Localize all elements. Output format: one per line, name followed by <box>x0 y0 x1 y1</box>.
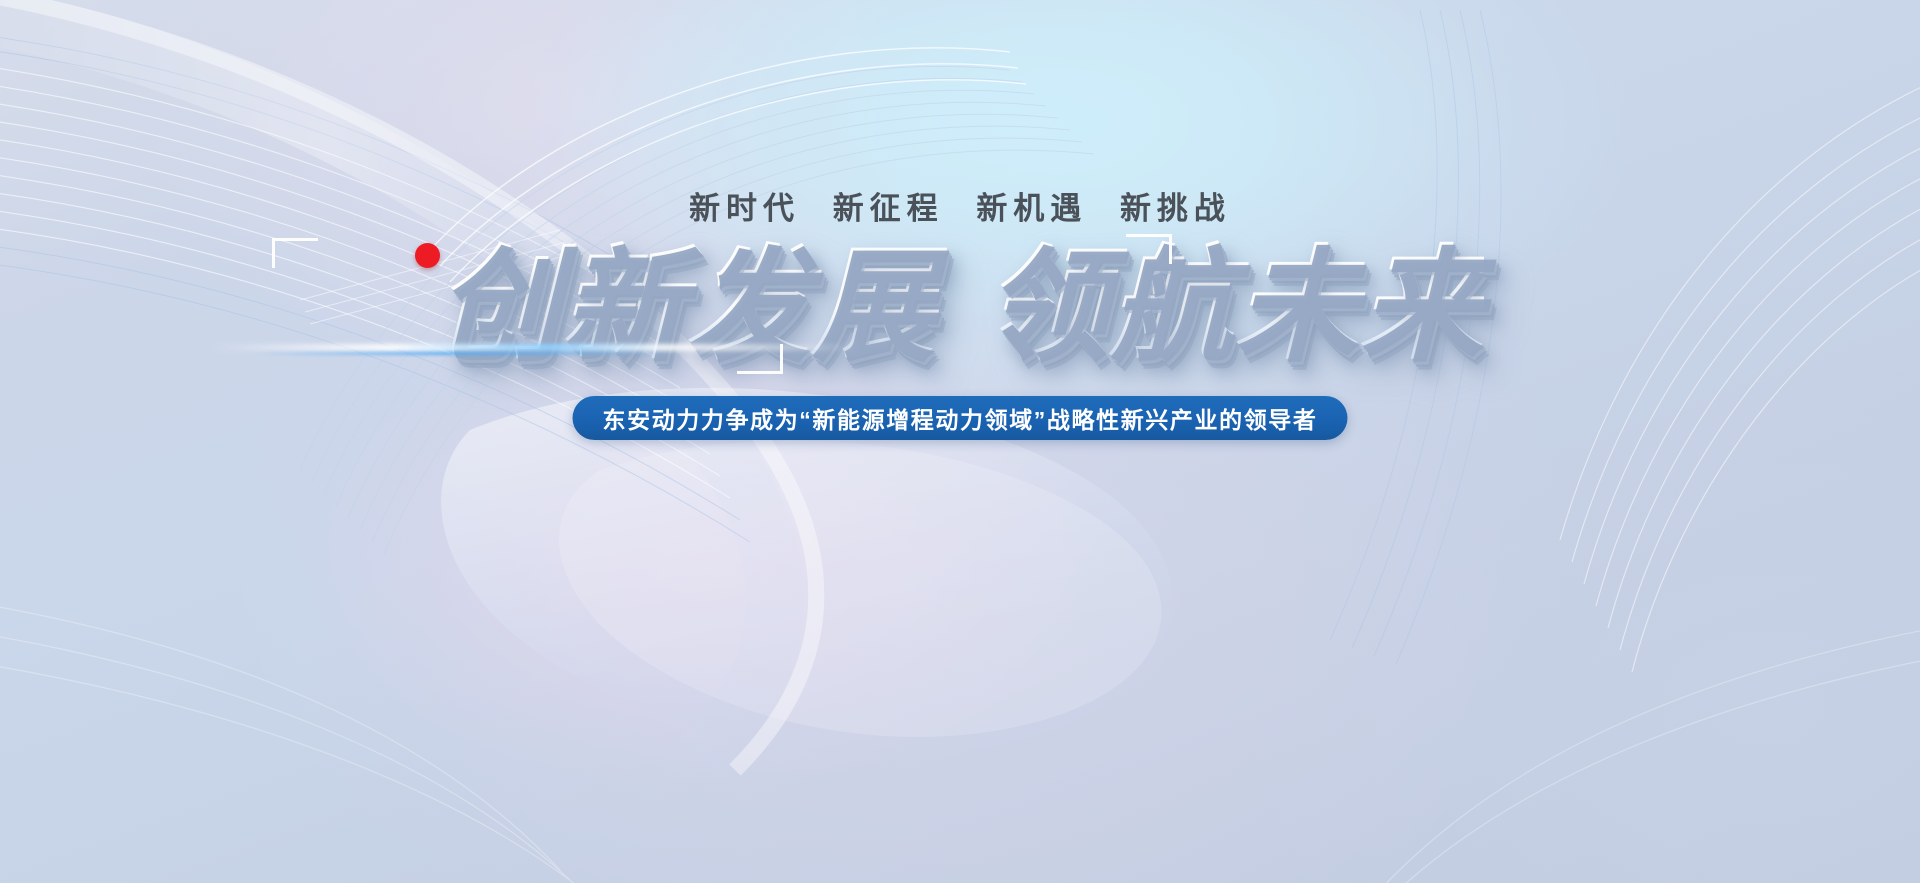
corner-bracket-top-left-icon <box>272 238 318 268</box>
tagline-word-2: 新征程 <box>833 191 944 226</box>
promo-banner: 新时代 新征程 新机遇 新挑战 创新发展领航未来 东安动力力争成为“新能源增程动… <box>0 0 1920 883</box>
tagline-word-3: 新机遇 <box>976 191 1087 226</box>
red-dot-accent-icon <box>415 243 440 268</box>
corner-bracket-top-right-icon <box>1126 234 1172 264</box>
tagline: 新时代 新征程 新机遇 新挑战 <box>0 183 1920 228</box>
subtitle-text: 东安动力力争成为“新能源增程动力领域”战略性新兴产业的领导者 <box>603 401 1318 435</box>
tagline-word-1: 新时代 <box>689 191 800 226</box>
headline-right: 领航未来 <box>984 237 1484 374</box>
subtitle-pill: 东安动力力争成为“新能源增程动力领域”战略性新兴产业的领导者 <box>573 396 1348 440</box>
background-wave-artwork <box>0 0 1920 883</box>
light-streak-decoration-secondary <box>250 352 680 355</box>
tagline-word-4: 新挑战 <box>1120 191 1231 226</box>
headline: 创新发展领航未来 <box>436 236 1484 376</box>
light-streak-decoration <box>210 344 860 351</box>
